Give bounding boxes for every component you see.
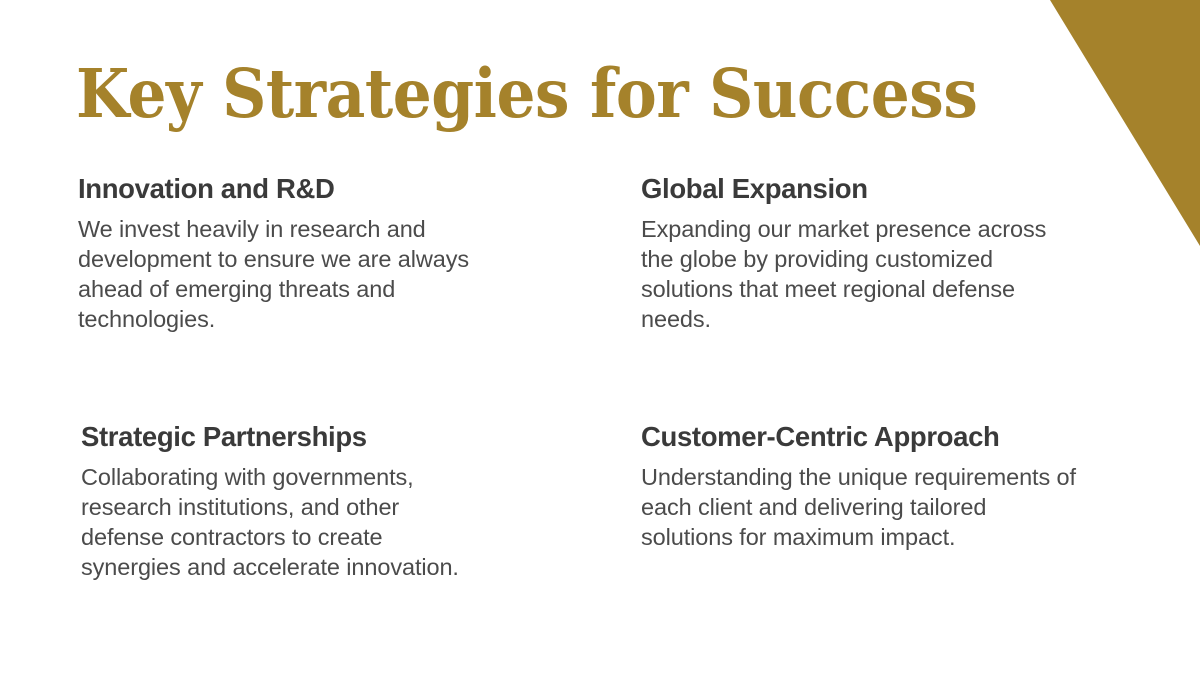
block-heading: Customer-Centric Approach bbox=[641, 420, 1141, 454]
strategy-block-global-expansion: Global Expansion Expanding our market pr… bbox=[641, 172, 1141, 334]
content-grid: Innovation and R&D We invest heavily in … bbox=[0, 172, 1200, 650]
strategy-block-innovation-and-rd: Innovation and R&D We invest heavily in … bbox=[78, 172, 578, 334]
content-row-bottom: Strategic Partnerships Collaborating wit… bbox=[0, 420, 1200, 650]
block-heading: Strategic Partnerships bbox=[81, 420, 581, 454]
strategy-block-customer-centric-approach: Customer-Centric Approach Understanding … bbox=[641, 420, 1141, 552]
content-row-top: Innovation and R&D We invest heavily in … bbox=[0, 172, 1200, 420]
block-heading: Innovation and R&D bbox=[78, 172, 578, 206]
page-title: Key Strategies for Success bbox=[76, 60, 977, 127]
block-body: We invest heavily in research and develo… bbox=[78, 214, 518, 334]
block-body: Collaborating with governments, research… bbox=[81, 462, 481, 582]
block-body: Expanding our market presence across the… bbox=[641, 214, 1081, 334]
slide-canvas: Key Strategies for Success Innovation an… bbox=[0, 0, 1200, 675]
block-heading: Global Expansion bbox=[641, 172, 1141, 206]
strategy-block-strategic-partnerships: Strategic Partnerships Collaborating wit… bbox=[81, 420, 581, 582]
block-body: Understanding the unique requirements of… bbox=[641, 462, 1081, 552]
